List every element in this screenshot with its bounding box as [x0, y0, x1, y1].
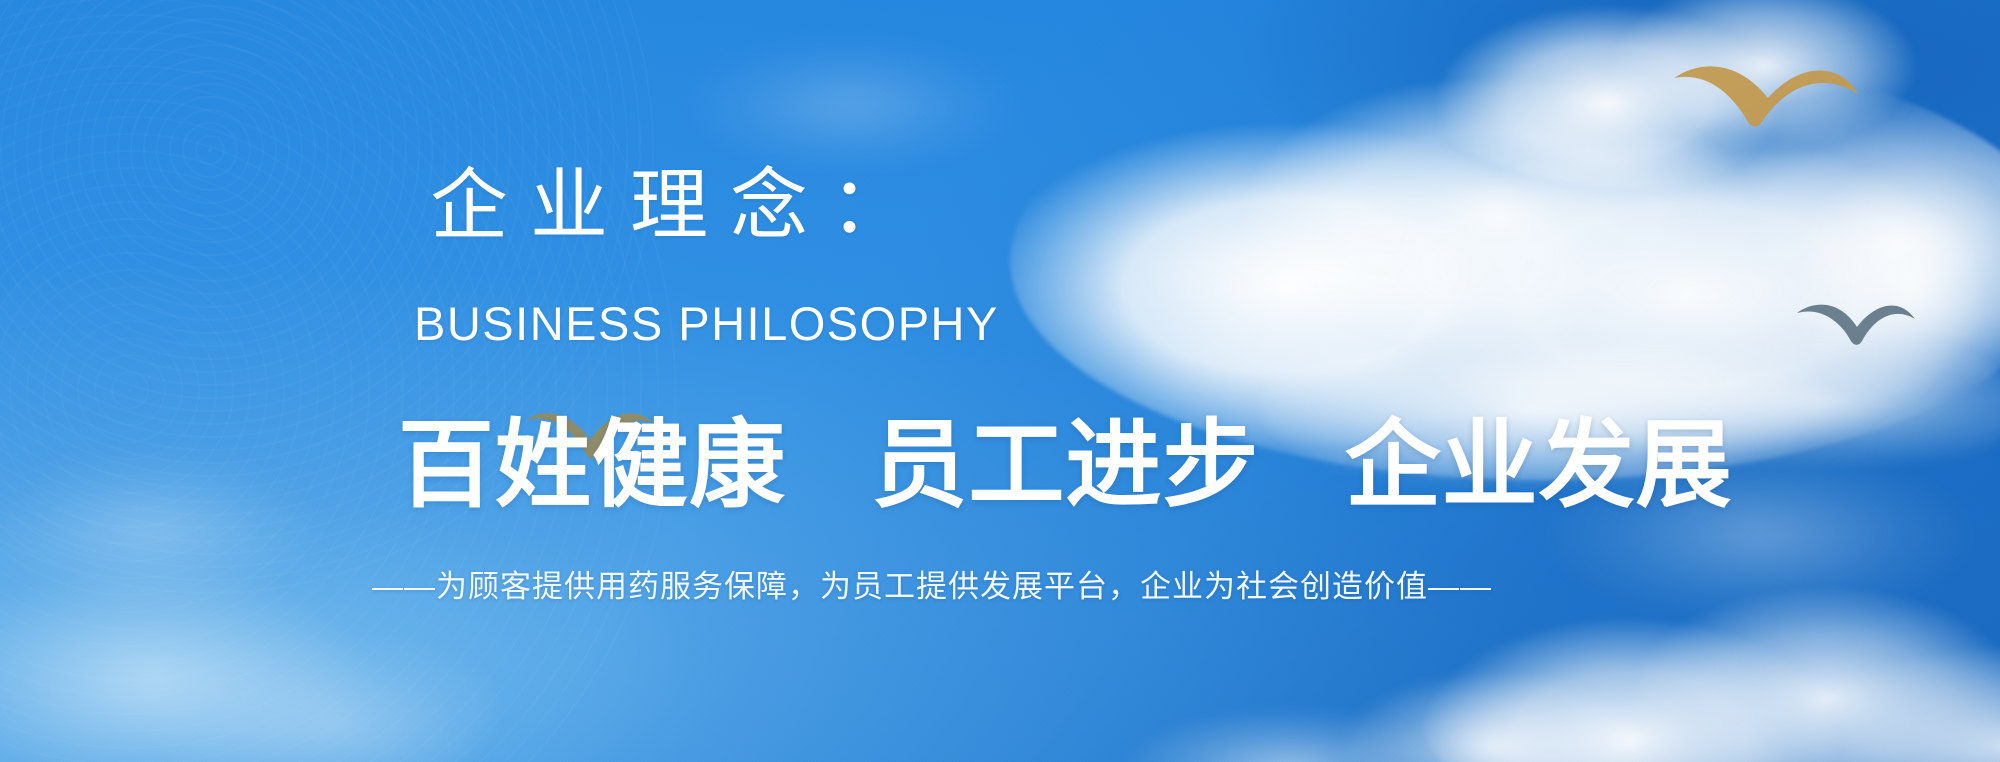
business-philosophy-banner: 企业理念： BUSINESS PHILOSOPHY 百姓健康 员工进步 企业发展…: [0, 0, 2000, 762]
banner-content: 企业理念： BUSINESS PHILOSOPHY 百姓健康 员工进步 企业发展…: [0, 0, 1640, 762]
slogan-segment-three: 企业发展: [1345, 412, 1733, 519]
slogan-segment-one: 百姓健康: [398, 412, 786, 519]
banner-tagline: ——为顾客提供用药服务保障，为员工提供发展平台，企业为社会创造价值——: [372, 568, 1492, 605]
banner-slogan: 百姓健康 员工进步 企业发展: [398, 418, 1733, 514]
banner-eyebrow-english: BUSINESS PHILOSOPHY: [414, 300, 999, 347]
banner-eyebrow-chinese: 企业理念：: [430, 166, 930, 244]
slogan-segment-two: 员工进步: [871, 412, 1259, 519]
